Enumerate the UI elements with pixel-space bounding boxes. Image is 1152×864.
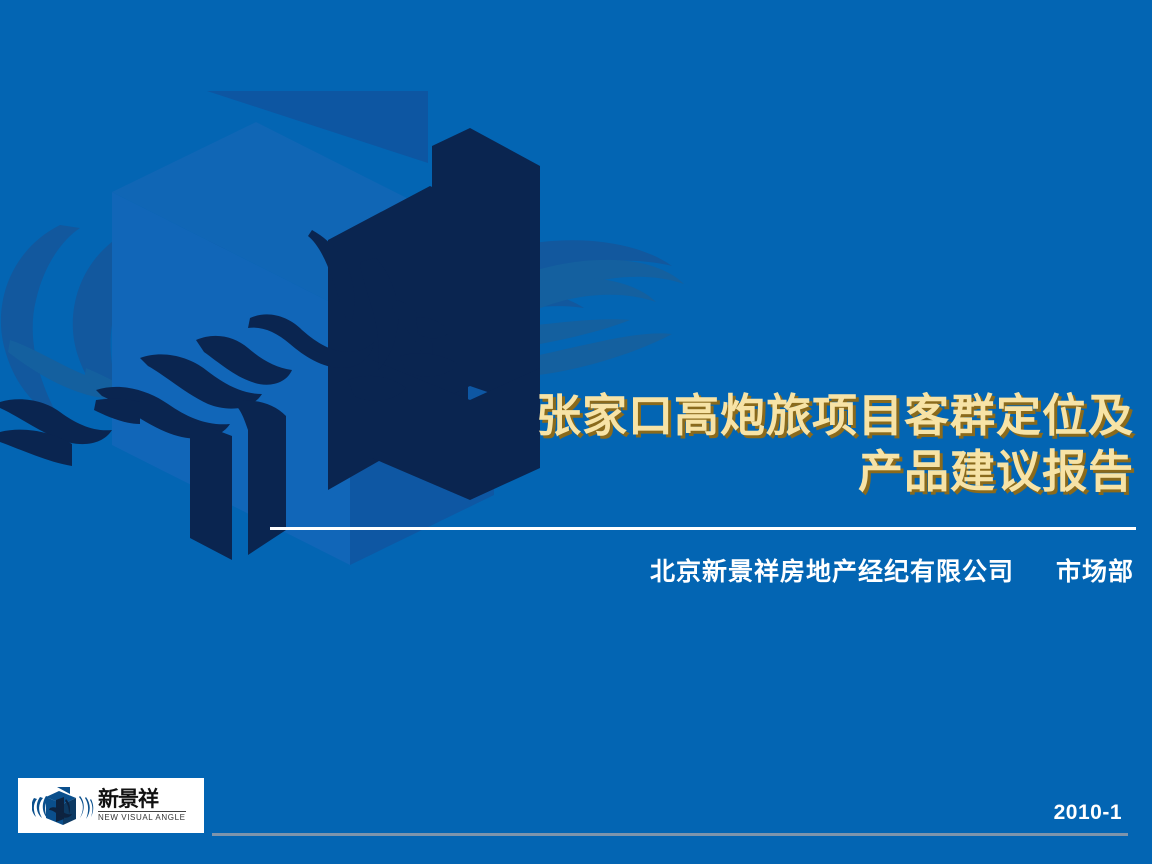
cube-right-dark-panel bbox=[432, 128, 470, 404]
footer-divider-rule bbox=[212, 833, 1128, 836]
company-logo: 新景祥 NEW VISUAL ANGLE bbox=[18, 778, 204, 833]
triangle-accent-icon bbox=[207, 91, 428, 163]
logo-english-name: NEW VISUAL ANGLE bbox=[98, 811, 186, 823]
cube-left-dark-accents bbox=[0, 399, 112, 466]
swirl-group-right bbox=[446, 240, 672, 348]
cube-top-face bbox=[112, 122, 494, 312]
swirl-group-left-fronds bbox=[8, 300, 426, 429]
cube-left-face bbox=[112, 192, 350, 565]
cube-inner-slab bbox=[328, 186, 430, 490]
cube-right-dark-panel-2 bbox=[470, 128, 540, 410]
new-visual-angle-mark-icon bbox=[32, 786, 94, 826]
cube-brush-motif bbox=[94, 230, 458, 560]
slide-subtitle: 北京新景祥房地产经纪有限公司市场部 bbox=[434, 552, 1134, 588]
presentation-title-slide: 张家口高炮旅项目客群定位及 产品建议报告 北京新景祥房地产经纪有限公司市场部 2… bbox=[0, 0, 1152, 864]
swirl-group-right-fronds bbox=[430, 260, 684, 377]
title-line-1: 张家口高炮旅项目客群定位及 bbox=[434, 388, 1134, 444]
title-divider-rule bbox=[270, 527, 1136, 530]
subtitle-company: 北京新景祥房地产经纪有限公司 bbox=[650, 558, 1014, 586]
logo-wordmark: 新景祥 NEW VISUAL ANGLE bbox=[98, 789, 186, 823]
title-line-2: 产品建议报告 bbox=[434, 444, 1134, 500]
footer-date: 2010-1 bbox=[1054, 801, 1122, 825]
logo-chinese-name: 新景祥 bbox=[98, 789, 186, 810]
swirl-group-left bbox=[1, 225, 232, 420]
slide-title: 张家口高炮旅项目客群定位及 产品建议报告 bbox=[434, 388, 1134, 500]
subtitle-department: 市场部 bbox=[1056, 558, 1134, 586]
